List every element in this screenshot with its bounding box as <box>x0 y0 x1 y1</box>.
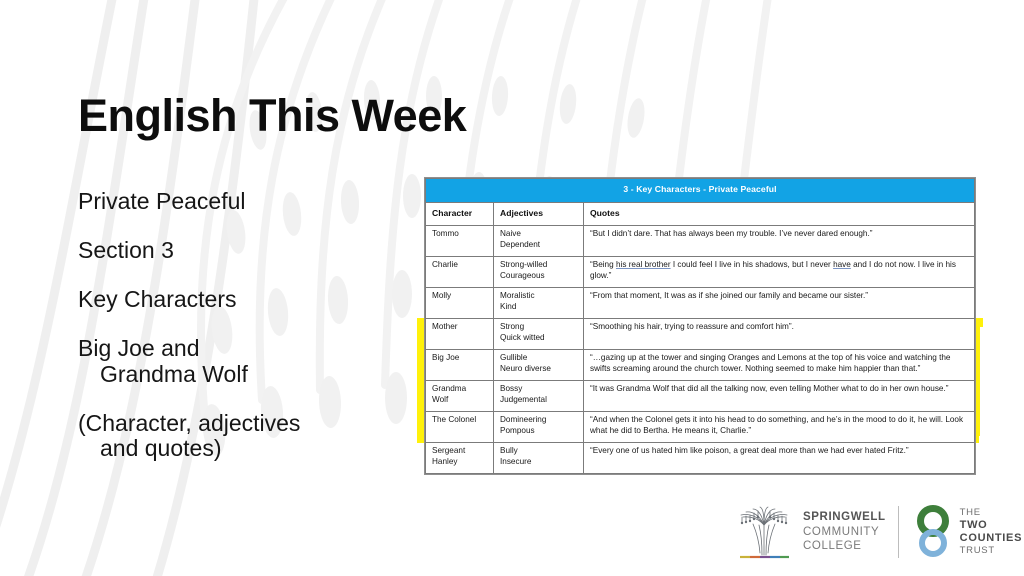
logo-divider <box>898 506 899 558</box>
footer-logos: SPRINGWELL COMMUNITY COLLEGE THE TWO COU… <box>733 503 1022 561</box>
cell-adjectives: Moralistic Kind <box>494 287 584 318</box>
key-characters-table: 3 - Key Characters - Private Peaceful Ch… <box>425 178 975 474</box>
springwell-line-3: COLLEGE <box>803 539 886 554</box>
cell-character: Mother <box>426 318 494 349</box>
cell-adjectives: Gullible Neuro diverse <box>494 349 584 380</box>
key-characters-table-container: 3 - Key Characters - Private Peaceful Ch… <box>425 178 974 474</box>
tct-line-4: TRUST <box>960 545 1022 557</box>
cell-adjectives: Strong-willed Courageous <box>494 257 584 288</box>
body-line-characters-named: Big Joe and Grandma Wolf <box>78 335 408 387</box>
cell-adjectives: Bully Insecure <box>494 442 584 473</box>
slide-title: English This Week <box>78 92 466 139</box>
cell-character: Big Joe <box>426 349 494 380</box>
cell-quote: “But I didn’t dare. That has always been… <box>584 226 975 257</box>
body-line-characters-named-a: Big Joe and <box>78 335 199 361</box>
cell-adjectives: Bossy Judgemental <box>494 380 584 411</box>
cell-quote: “Every one of us hated him like poison, … <box>584 442 975 473</box>
underlined-phrase: have <box>833 260 851 269</box>
cell-character: Charlie <box>426 257 494 288</box>
slide-body-text: Private Peaceful Section 3 Key Character… <box>78 188 408 462</box>
cell-character: Sergeant Hanley <box>426 442 494 473</box>
table-banner-title: 3 - Key Characters - Private Peaceful <box>426 179 975 203</box>
tct-line-1: THE <box>960 507 1022 519</box>
cell-quote: “…gazing up at the tower and singing Ora… <box>584 349 975 380</box>
column-header-quotes: Quotes <box>584 202 975 226</box>
two-counties-trust-icon <box>913 505 953 559</box>
cell-character: Molly <box>426 287 494 318</box>
cell-adjectives: Strong Quick witted <box>494 318 584 349</box>
body-line-private-peaceful: Private Peaceful <box>78 188 408 215</box>
table-row: Grandma Wolf Bossy Judgemental “It was G… <box>426 380 975 411</box>
table-row: Mother Strong Quick witted “Smoothing hi… <box>426 318 975 349</box>
table-row: Big Joe Gullible Neuro diverse “…gazing … <box>426 349 975 380</box>
cell-quote: “It was Grandma Wolf that did all the ta… <box>584 380 975 411</box>
table-row: Molly Moralistic Kind “From that moment,… <box>426 287 975 318</box>
body-line-characters-named-b: Grandma Wolf <box>78 361 408 388</box>
cell-character: Tommo <box>426 226 494 257</box>
body-line-section: Section 3 <box>78 237 408 264</box>
springwell-wordmark: SPRINGWELL COMMUNITY COLLEGE <box>803 510 886 554</box>
body-line-key-characters: Key Characters <box>78 286 408 313</box>
two-counties-trust-wordmark: THE TWO COUNTIES TRUST <box>960 507 1022 557</box>
cell-quote: “Being his real brother I could feel I l… <box>584 257 975 288</box>
cell-quote: “From that moment, It was as if she join… <box>584 287 975 318</box>
tct-line-2: TWO <box>960 519 1022 532</box>
springwell-tree-icon <box>733 503 795 561</box>
cell-quote: “Smoothing his hair, trying to reassure … <box>584 318 975 349</box>
column-header-character: Character <box>426 202 494 226</box>
cell-adjectives: Naive Dependent <box>494 226 584 257</box>
body-line-task-b: and quotes) <box>78 435 408 462</box>
table-row: Charlie Strong-willed Courageous “Being … <box>426 257 975 288</box>
table-row: Sergeant Hanley Bully Insecure “Every on… <box>426 442 975 473</box>
table-row: Tommo Naive Dependent “But I didn’t dare… <box>426 226 975 257</box>
cell-character: The Colonel <box>426 411 494 442</box>
table-row: The Colonel Domineering Pompous “And whe… <box>426 411 975 442</box>
cell-adjectives: Domineering Pompous <box>494 411 584 442</box>
springwell-line-2: COMMUNITY <box>803 525 886 540</box>
cell-character: Grandma Wolf <box>426 380 494 411</box>
underlined-phrase: his real brother <box>616 260 671 269</box>
slide-canvas: English This Week Private Peaceful Secti… <box>0 0 1024 576</box>
body-line-task-a: (Character, adjectives <box>78 410 300 436</box>
springwell-line-1: SPRINGWELL <box>803 510 886 525</box>
table-banner-row: 3 - Key Characters - Private Peaceful <box>426 179 975 203</box>
column-header-adjectives: Adjectives <box>494 202 584 226</box>
tct-line-3: COUNTIES <box>960 532 1022 545</box>
cell-quote: “And when the Colonel gets it into his h… <box>584 411 975 442</box>
body-line-task: (Character, adjectives and quotes) <box>78 410 408 462</box>
table-header-row: Character Adjectives Quotes <box>426 202 975 226</box>
